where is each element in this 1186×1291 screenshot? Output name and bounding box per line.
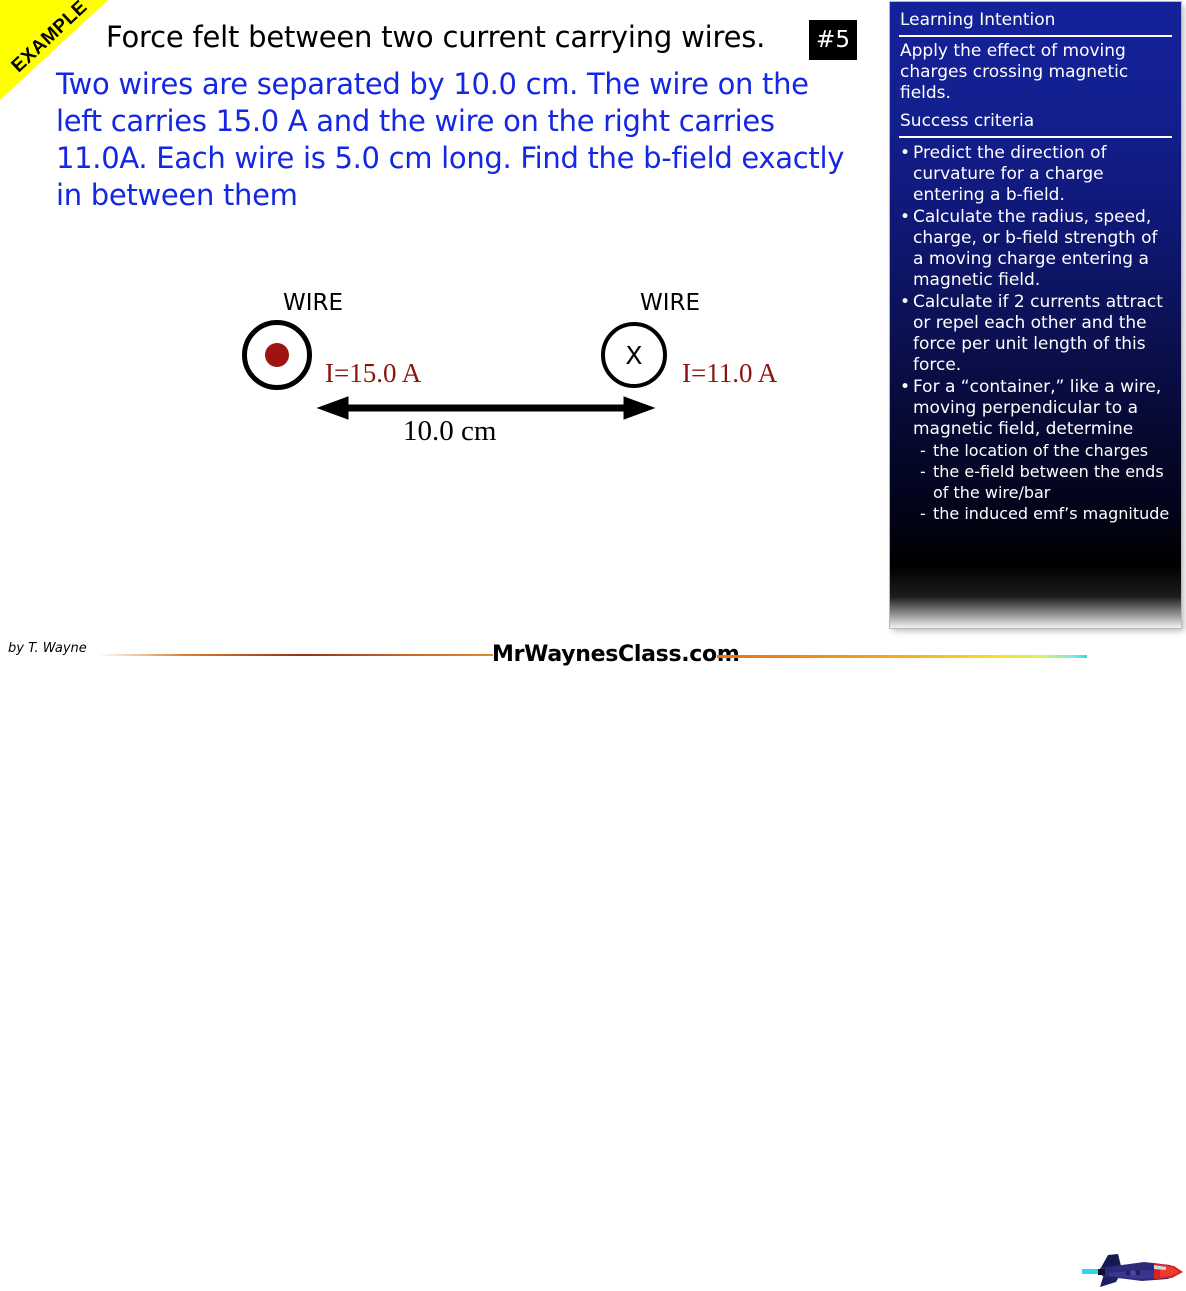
- sub-criteria-text: the e-field between the ends of the wire…: [933, 462, 1164, 502]
- learning-intention-text: Apply the effect of moving charges cross…: [899, 41, 1172, 109]
- site-name-label: MrWaynesClass.com: [492, 642, 739, 667]
- dash-icon: -: [920, 503, 926, 524]
- wire-diagram: WIRE WIRE X I=15.0 A I=11.0 A 10.0 cm: [0, 270, 870, 470]
- separation-distance-label: 10.0 cm: [403, 415, 496, 448]
- slide-number-badge: #5: [809, 20, 857, 60]
- slide-canvas: EXAMPLE Force felt between two current c…: [0, 0, 1186, 667]
- learning-objectives-panel: Learning Intention Apply the effect of m…: [890, 2, 1181, 628]
- success-criteria-divider: [899, 136, 1172, 138]
- learning-intention-divider: [899, 35, 1172, 37]
- slide-footer: by T. Wayne MrWaynesClass.com: [0, 625, 1186, 667]
- list-item: - the e-field between the ends of the wi…: [919, 461, 1172, 503]
- criteria-text: For a “container,” like a wire, moving p…: [913, 377, 1161, 439]
- example-triangle-shape: [0, 0, 108, 100]
- bullet-icon: •: [900, 377, 910, 398]
- criteria-text: Predict the direction of curvature for a…: [913, 143, 1107, 205]
- list-item: • Calculate if 2 currents attract or rep…: [899, 292, 1172, 376]
- problem-statement: Two wires are separated by 10.0 cm. The …: [56, 66, 856, 214]
- example-corner-banner: EXAMPLE: [0, 0, 108, 100]
- bullet-icon: •: [900, 207, 910, 228]
- dash-icon: -: [920, 440, 926, 461]
- rocket-icon: [1082, 1251, 1186, 1291]
- success-criteria-heading: Success criteria: [899, 109, 1172, 134]
- list-item: • For a “container,” like a wire, moving…: [899, 377, 1172, 524]
- dash-icon: -: [920, 461, 926, 482]
- list-item: - the location of the charges: [919, 440, 1172, 461]
- success-criteria-list: • Predict the direction of curvature for…: [899, 143, 1172, 524]
- page-title: Force felt between two current carrying …: [106, 20, 806, 54]
- list-item: • Calculate the radius, speed, charge, o…: [899, 207, 1172, 291]
- footer-divider-right: [717, 655, 1087, 658]
- criteria-sublist: - the location of the charges - the e-fi…: [913, 440, 1172, 524]
- list-item: • Predict the direction of curvature for…: [899, 143, 1172, 206]
- bullet-icon: •: [900, 143, 910, 164]
- footer-divider-left: [98, 654, 493, 656]
- criteria-text: Calculate if 2 currents attract or repel…: [913, 292, 1163, 375]
- list-item: - the induced emf’s magnitude: [919, 503, 1172, 524]
- sub-criteria-text: the location of the charges: [933, 441, 1148, 460]
- bullet-icon: •: [900, 292, 910, 313]
- sub-criteria-text: the induced emf’s magnitude: [933, 504, 1169, 523]
- criteria-text: Calculate the radius, speed, charge, or …: [913, 207, 1157, 290]
- author-byline: by T. Wayne: [8, 641, 87, 656]
- learning-intention-heading: Learning Intention: [899, 8, 1172, 33]
